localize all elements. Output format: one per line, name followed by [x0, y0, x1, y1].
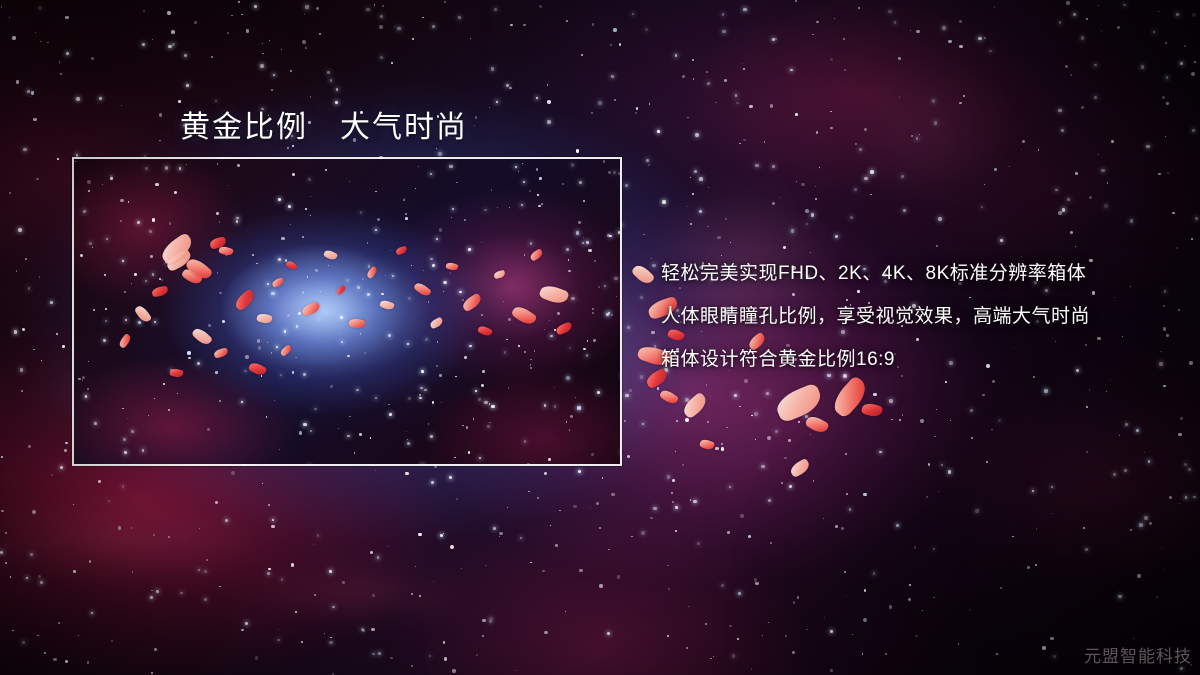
body-line-1: 轻松完美实现FHD、2K、4K、8K标准分辨率箱体 [661, 252, 1161, 295]
framed-photo-image [74, 159, 620, 464]
slide-canvas: 黄金比例 大气时尚 轻松完美实现FHD、2K、4K、8K标准分辨率箱体 人体眼睛… [0, 0, 1200, 675]
page-title: 黄金比例 大气时尚 [180, 102, 468, 146]
watermark: 元盟智能科技 [1084, 642, 1192, 667]
framed-photo [72, 157, 622, 466]
body-line-3: 箱体设计符合黄金比例16:9 [661, 338, 1161, 381]
body-line-2: 人体眼睛瞳孔比例，享受视觉效果，高端大气时尚 [661, 295, 1161, 338]
body-copy: 轻松完美实现FHD、2K、4K、8K标准分辨率箱体 人体眼睛瞳孔比例，享受视觉效… [661, 252, 1161, 381]
